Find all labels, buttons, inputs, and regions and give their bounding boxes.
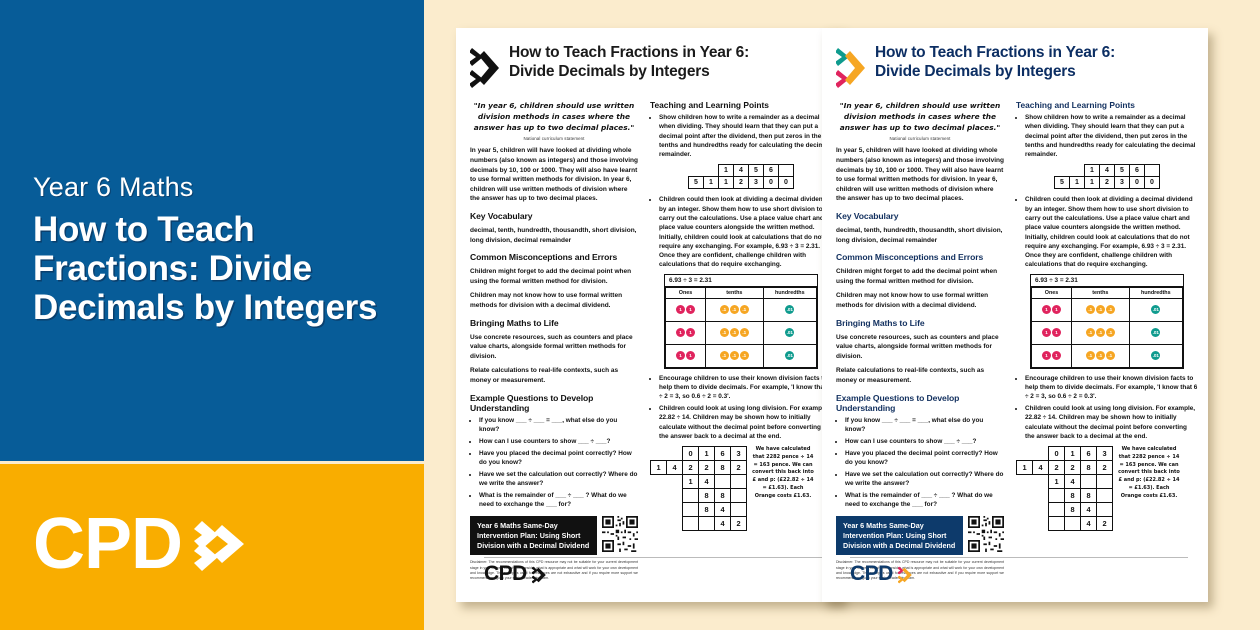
cell: 8	[699, 489, 715, 503]
key-vocabulary-heading: Key Vocabulary	[470, 211, 638, 221]
document-left-column: "In year 6, children should use written …	[836, 100, 1004, 581]
misconception-text: Children might forget to add the decimal…	[836, 267, 1004, 286]
teaching-points-list: Children could then look at dividing a d…	[1016, 195, 1198, 269]
banner-text-box: Year 6 Maths Same-Day Intervention Plan:…	[836, 516, 963, 555]
cell: 8	[715, 489, 731, 503]
cell: 3	[1097, 447, 1113, 461]
banner-text-box: Year 6 Maths Same-Day Intervention Plan:…	[470, 516, 597, 555]
cell	[1097, 489, 1113, 503]
table-row: 11 .1.1.1 .01	[666, 298, 817, 321]
cell	[731, 503, 747, 517]
long-division-note: We have calculated that 2282 pence ÷ 14 …	[1118, 446, 1180, 531]
cell	[683, 489, 699, 503]
cell: 2	[734, 177, 749, 189]
list-item: Encourage children to use their known di…	[659, 374, 832, 402]
cell: 4	[734, 165, 749, 177]
cell	[1049, 503, 1065, 517]
key-vocabulary-heading: Key Vocabulary	[836, 211, 1004, 221]
place-value-chart: 6.93 ÷ 3 = 2.31 Ones tenths hundredths 1…	[664, 274, 818, 369]
teaching-points-list: Encourage children to use their known di…	[650, 374, 832, 441]
qr-code-icon[interactable]	[968, 516, 1004, 552]
banner-line2: Intervention Plan: Using Short	[477, 531, 590, 541]
cell: 1	[651, 461, 667, 475]
key-vocabulary-text: decimal, tenth, hundredth, thousandth, s…	[836, 226, 1004, 245]
document-left-column: "In year 6, children should use written …	[470, 100, 638, 581]
list-item: Children could look at using long divisi…	[659, 404, 832, 441]
short-division-grid: 1 4 5 6 5 1 1 2 3	[688, 164, 794, 189]
column-header: Ones	[666, 287, 706, 298]
misconception-text: Children may not know how to use formal …	[470, 291, 638, 310]
nc-quote: "In year 6, children should use written …	[836, 100, 1004, 133]
intro-paragraph: In year 5, children will have looked at …	[470, 146, 638, 204]
cell: 1	[1049, 475, 1065, 489]
intro-paragraph: In year 5, children will have looked at …	[836, 146, 1004, 204]
example-questions-heading: Example Questions to Develop Understandi…	[470, 393, 638, 413]
cell	[1049, 489, 1065, 503]
bringing-maths-heading: Bringing Maths to Life	[836, 318, 1004, 328]
promo-panel: Year 6 Maths How to Teach Fractions: Div…	[0, 0, 424, 630]
cell	[731, 489, 747, 503]
intervention-plan-banner[interactable]: Year 6 Maths Same-Day Intervention Plan:…	[836, 516, 1004, 555]
cell: 4	[667, 461, 683, 475]
list-item: Have you placed the decimal point correc…	[845, 449, 1004, 468]
example-questions-list: If you know ___ ÷ ___ = ___, what else d…	[836, 416, 1004, 510]
cell: 4	[1081, 517, 1097, 531]
list-item: How can I use counters to show ___ ÷ ___…	[479, 437, 638, 446]
cpd-chevron-icon	[192, 513, 254, 575]
document-title-line1: How to Teach Fractions in Year 6:	[509, 44, 749, 63]
misconception-text: Children may not know how to use formal …	[836, 291, 1004, 310]
qr-code-icon[interactable]	[602, 516, 638, 552]
misconception-text: Children might forget to add the decimal…	[470, 267, 638, 286]
bringing-maths-text: Relate calculations to real-life context…	[470, 366, 638, 385]
list-item: How can I use counters to show ___ ÷ ___…	[845, 437, 1004, 446]
cell: 0	[779, 177, 794, 189]
cell: 4	[1065, 475, 1081, 489]
list-item: Show children how to write a remainder a…	[1025, 113, 1198, 159]
nc-source: National curriculum statement	[470, 136, 638, 141]
banner-line1: Year 6 Maths Same-Day	[477, 521, 590, 531]
cell: 5	[689, 177, 704, 189]
teaching-points-list: Children could then look at dividing a d…	[650, 195, 832, 269]
cell: 4	[1100, 165, 1115, 177]
cell: 1	[1085, 165, 1100, 177]
long-division-grid: 0163 142282 14 88 84 42	[650, 446, 747, 531]
cell: 6	[1130, 165, 1145, 177]
table-row: 11 .1.1.1 .01	[1032, 344, 1183, 367]
cell: 3	[731, 447, 747, 461]
pvc-calculation: 6.93 ÷ 3 = 2.31	[665, 275, 817, 287]
cell: 1	[1065, 447, 1081, 461]
cpd-chevron-icon	[470, 46, 500, 90]
table-row: 11 .1.1.1 .01	[1032, 321, 1183, 344]
document-right-column: Teaching and Learning Points Show childr…	[1016, 100, 1198, 581]
cell: 2	[731, 461, 747, 475]
document-header: How to Teach Fractions in Year 6: Divide…	[836, 44, 1198, 94]
cell: 8	[1065, 503, 1081, 517]
cell: 1	[1017, 461, 1033, 475]
long-division-grid: 0163 142282 14 88 84 42	[1016, 446, 1113, 531]
cell: 5	[1055, 177, 1070, 189]
column-header: hundredths	[1129, 287, 1182, 298]
table-row: 11 .1.1.1 .01	[1032, 298, 1183, 321]
document-header: How to Teach Fractions in Year 6: Divide…	[470, 44, 832, 94]
cell	[715, 475, 731, 489]
promo-eyebrow: Year 6 Maths	[33, 172, 403, 203]
list-item: Have we set the calculation out correctl…	[479, 470, 638, 489]
footer-logo-word: CPD	[484, 565, 527, 584]
cell	[1065, 517, 1081, 531]
cell: 2	[699, 461, 715, 475]
banner-line3: Division with a Decimal Dividend	[477, 541, 590, 551]
cell: 2	[683, 461, 699, 475]
misconceptions-heading: Common Misconceptions and Errors	[836, 252, 1004, 262]
document-sheet-back[interactable]: How to Teach Fractions in Year 6: Divide…	[456, 28, 842, 602]
intervention-plan-banner[interactable]: Year 6 Maths Same-Day Intervention Plan:…	[470, 516, 638, 555]
long-division-area: 0163 142282 14 88 84 42 We have calculat…	[650, 446, 832, 531]
teaching-points-list: Encourage children to use their known di…	[1016, 374, 1198, 441]
table-row: 11 .1.1.1 .01	[666, 321, 817, 344]
cell	[683, 517, 699, 531]
list-item: Children could then look at dividing a d…	[659, 195, 832, 269]
cell: 2	[1065, 461, 1081, 475]
promo-title: How to Teach Fractions: Divide Decimals …	[33, 210, 393, 328]
long-division-note: We have calculated that 2282 pence ÷ 14 …	[752, 446, 814, 531]
nc-quote: "In year 6, children should use written …	[470, 100, 638, 133]
cell: 4	[715, 517, 731, 531]
cell: 0	[1145, 177, 1160, 189]
cell: 8	[1081, 461, 1097, 475]
document-title-line2: Divide Decimals by Integers	[875, 63, 1115, 82]
cell	[731, 475, 747, 489]
nc-source: National curriculum statement	[836, 136, 1004, 141]
cell: 5	[1115, 165, 1130, 177]
place-value-chart: 6.93 ÷ 3 = 2.31 Ones tenths hundredths 1…	[1030, 274, 1184, 369]
cell: 2	[731, 517, 747, 531]
cell: 1	[683, 475, 699, 489]
list-item: Have we set the calculation out correctl…	[845, 470, 1004, 489]
cell	[699, 517, 715, 531]
cpd-chevron-icon	[532, 566, 550, 584]
cell: 0	[1049, 447, 1065, 461]
column-header: Ones	[1032, 287, 1072, 298]
cell: 1	[719, 165, 734, 177]
cell	[683, 503, 699, 517]
bringing-maths-heading: Bringing Maths to Life	[470, 318, 638, 328]
cell: 1	[704, 177, 719, 189]
example-questions-heading: Example Questions to Develop Understandi…	[836, 393, 1004, 413]
document-footer: CPD	[850, 557, 1188, 584]
document-page-color: How to Teach Fractions in Year 6: Divide…	[822, 28, 1208, 602]
cell: 1	[719, 177, 734, 189]
teaching-points-list: Show children how to write a remainder a…	[1016, 113, 1198, 159]
cpd-chevron-icon	[836, 46, 866, 90]
list-item: If you know ___ ÷ ___ = ___, what else d…	[845, 416, 1004, 435]
cell: 2	[1049, 461, 1065, 475]
cell: 1	[1085, 177, 1100, 189]
cell: 4	[1081, 503, 1097, 517]
long-division-area: 0163 142282 14 88 84 42 We have calculat…	[1016, 446, 1198, 531]
cell: 3	[1115, 177, 1130, 189]
cell	[1081, 475, 1097, 489]
document-sheet-front[interactable]: How to Teach Fractions in Year 6: Divide…	[822, 28, 1208, 602]
bringing-maths-text: Use concrete resources, such as counters…	[470, 333, 638, 362]
cell	[1097, 475, 1113, 489]
banner-line1: Year 6 Maths Same-Day	[843, 521, 956, 531]
cell: 0	[1130, 177, 1145, 189]
cell: 8	[1065, 489, 1081, 503]
cell	[1097, 503, 1113, 517]
cell: 3	[749, 177, 764, 189]
cell: 6	[764, 165, 779, 177]
cell: 2	[1097, 517, 1113, 531]
banner-line3: Division with a Decimal Dividend	[843, 541, 956, 551]
list-item: What is the remainder of ___ ÷ ___ ? Wha…	[479, 491, 638, 510]
cell: 4	[715, 503, 731, 517]
pvc-calculation: 6.93 ÷ 3 = 2.31	[1031, 275, 1183, 287]
cell	[1049, 517, 1065, 531]
cell: 8	[699, 503, 715, 517]
list-item: Show children how to write a remainder a…	[659, 113, 832, 159]
teaching-points-heading: Teaching and Learning Points	[1016, 100, 1198, 110]
cell: 8	[715, 461, 731, 475]
cell: 0	[683, 447, 699, 461]
banner-line2: Intervention Plan: Using Short	[843, 531, 956, 541]
bringing-maths-text: Use concrete resources, such as counters…	[836, 333, 1004, 362]
document-page-mono: How to Teach Fractions in Year 6: Divide…	[456, 28, 842, 602]
short-division-grid: 1 4 5 6 5 1 1 2 3	[1054, 164, 1160, 189]
cell: 1	[699, 447, 715, 461]
cpd-chevron-icon	[898, 566, 916, 584]
list-item: Children could then look at dividing a d…	[1025, 195, 1198, 269]
document-footer: CPD	[484, 557, 822, 584]
key-vocabulary-text: decimal, tenth, hundredth, thousandth, s…	[470, 226, 638, 245]
bringing-maths-text: Relate calculations to real-life context…	[836, 366, 1004, 385]
promo-logo: CPD	[33, 512, 254, 577]
cell: 6	[715, 447, 731, 461]
column-header: tenths	[706, 287, 764, 298]
cell: 4	[1033, 461, 1049, 475]
list-item: What is the remainder of ___ ÷ ___ ? Wha…	[845, 491, 1004, 510]
cell: 5	[749, 165, 764, 177]
document-right-column: Teaching and Learning Points Show childr…	[650, 100, 832, 581]
promo-logo-word: CPD	[33, 512, 182, 577]
cell: 1	[1070, 177, 1085, 189]
cell: 2	[1097, 461, 1113, 475]
column-header: hundredths	[763, 287, 816, 298]
cell: 8	[1081, 489, 1097, 503]
table-row: 11 .1.1.1 .01	[666, 344, 817, 367]
screenshot-root: Year 6 Maths How to Teach Fractions: Div…	[0, 0, 1260, 630]
footer-logo-word: CPD	[850, 565, 893, 584]
teaching-points-heading: Teaching and Learning Points	[650, 100, 832, 110]
example-questions-list: If you know ___ ÷ ___ = ___, what else d…	[470, 416, 638, 510]
list-item: Encourage children to use their known di…	[1025, 374, 1198, 402]
cell: 6	[1081, 447, 1097, 461]
list-item: If you know ___ ÷ ___ = ___, what else d…	[479, 416, 638, 435]
document-title-line2: Divide Decimals by Integers	[509, 63, 749, 82]
teaching-points-list: Show children how to write a remainder a…	[650, 113, 832, 159]
cell: 4	[699, 475, 715, 489]
cell: 2	[1100, 177, 1115, 189]
column-header: tenths	[1072, 287, 1130, 298]
document-title-line1: How to Teach Fractions in Year 6:	[875, 44, 1115, 63]
cell: 0	[764, 177, 779, 189]
list-item: Have you placed the decimal point correc…	[479, 449, 638, 468]
misconceptions-heading: Common Misconceptions and Errors	[470, 252, 638, 262]
list-item: Children could look at using long divisi…	[1025, 404, 1198, 441]
